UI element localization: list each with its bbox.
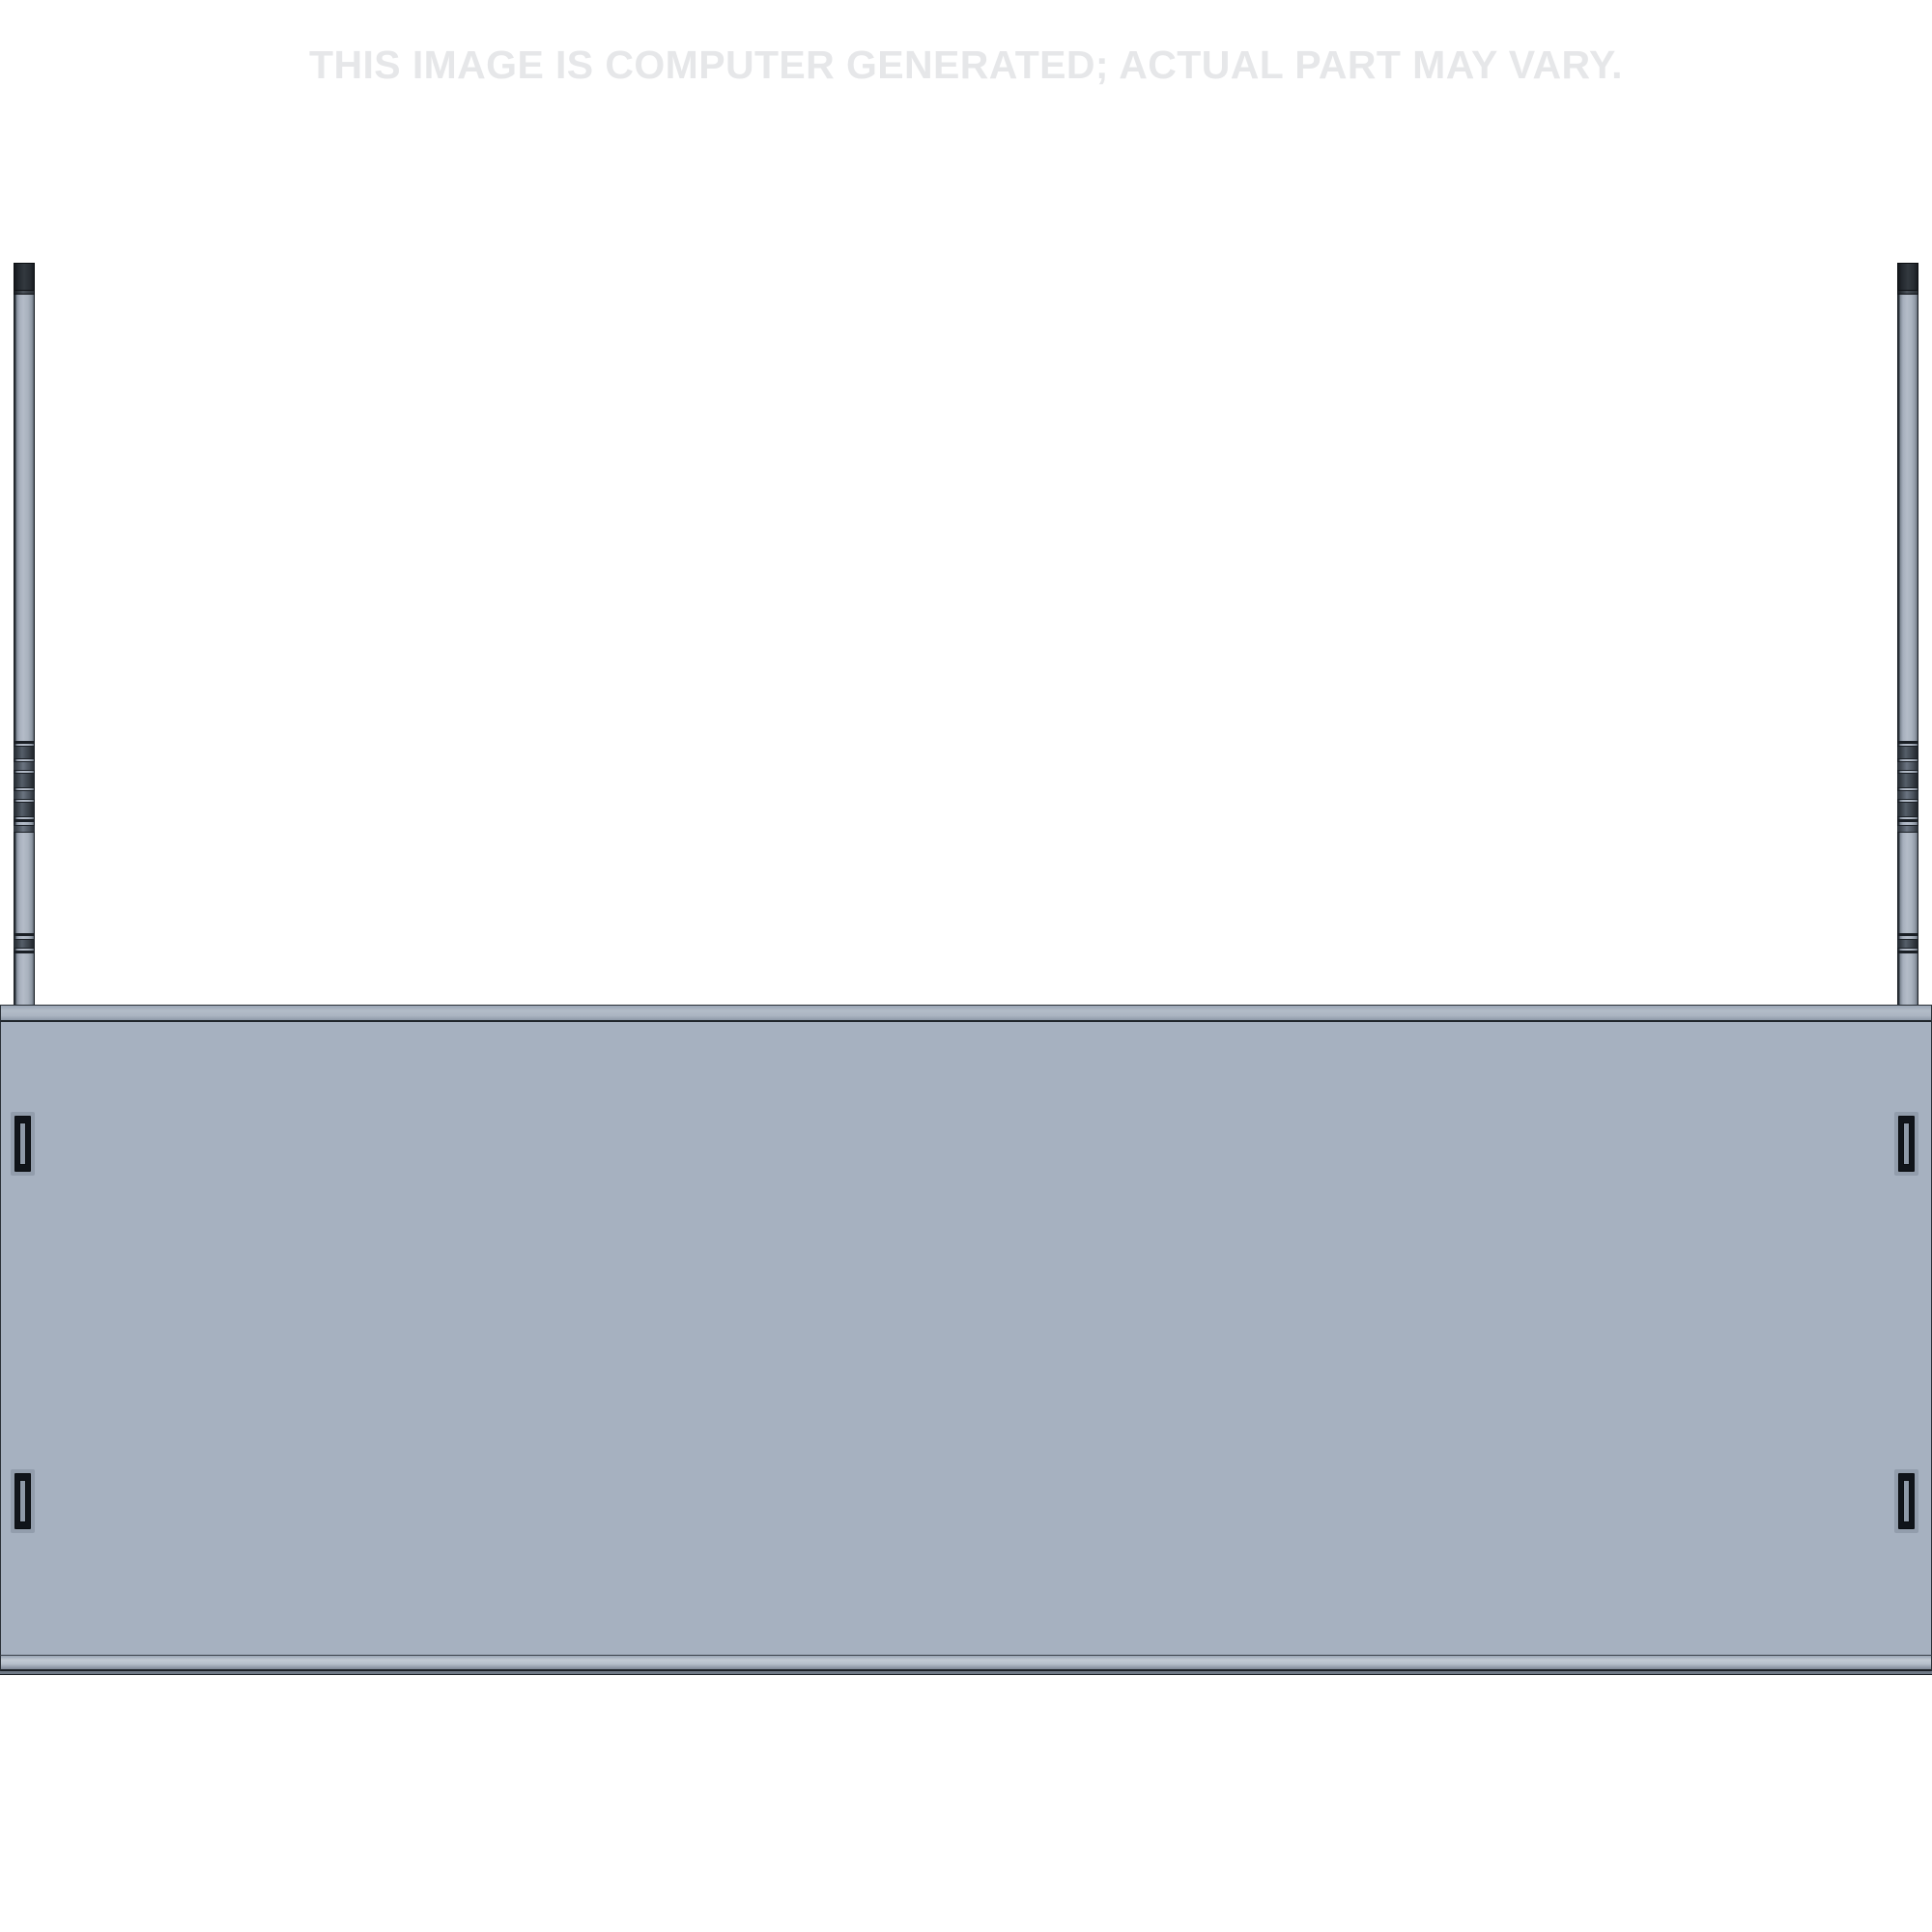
right-post-band [1897,951,1918,953]
right-post-band [1897,802,1918,817]
left-post-band [14,802,35,817]
left-post-band [14,741,35,744]
left-post-band [14,773,35,788]
part-render-scene [0,0,1932,1932]
left-post-band [14,951,35,953]
right-post-band [1897,825,1918,833]
panel-top-flange [0,1005,1932,1022]
right-post-band [1897,819,1918,822]
left-post-band [14,819,35,822]
left-post-shaft [14,295,35,1011]
right-post-band [1897,933,1918,936]
right-post-band [1897,939,1918,949]
slot-top-right-inner [1903,1122,1910,1165]
slot-bottom-left [14,1473,31,1529]
left-post-band [14,761,35,771]
slot-bottom-left-inner [19,1480,26,1522]
slot-bottom-right [1898,1473,1915,1529]
right-post-cap [1897,263,1918,292]
slot-top-left-inner [19,1122,26,1165]
right-post-band [1897,741,1918,744]
left-post-band [14,790,35,800]
slot-top-left [14,1116,31,1172]
left-post-band [14,933,35,936]
right-post-band [1897,761,1918,771]
panel-bottom-flange [0,1655,1932,1671]
right-post-shaft [1897,295,1918,1011]
right-post-band [1897,773,1918,788]
left-post-cap [14,263,35,292]
right-post-band [1897,790,1918,800]
slot-bottom-right-inner [1903,1480,1910,1522]
right-post-band [1897,746,1918,759]
main-panel [0,1022,1932,1655]
slot-top-right [1898,1116,1915,1172]
left-post-band [14,746,35,759]
left-post-band [14,825,35,833]
panel-bottom-edge [0,1671,1932,1675]
left-post-band [14,939,35,949]
